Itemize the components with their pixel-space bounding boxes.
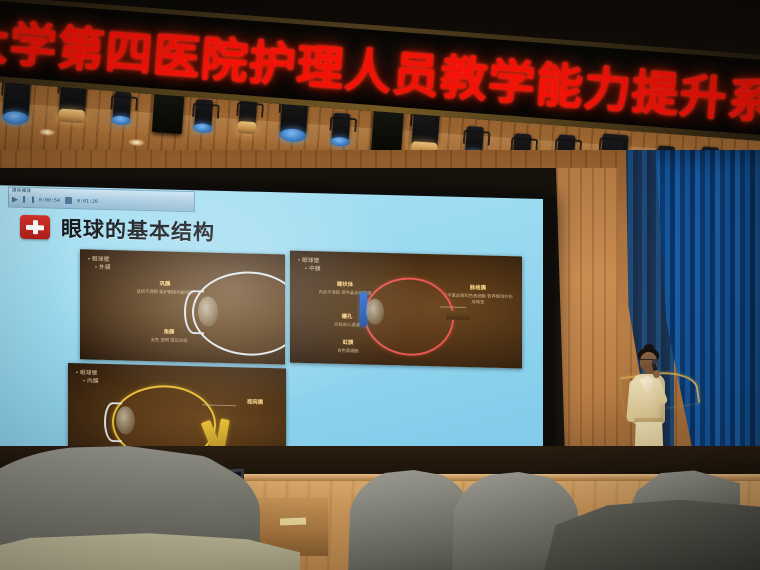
total-time: 0:01:26 [77, 198, 98, 205]
anno-retina-heading: 视网膜 [232, 399, 278, 408]
speaker-icon[interactable] [65, 197, 72, 204]
stage-light-blue [194, 99, 213, 130]
lens-shape [198, 296, 218, 327]
stage-speaker [152, 90, 185, 134]
lens-shape [366, 299, 384, 325]
anno-cornea-sub: 无色 透明 透过光线 [138, 337, 200, 345]
panel-outer-layer: 眼球壁 外膜 巩膜 坚韧不透明 保护眼球内部组织 角膜 无色 透明 透过光线 [80, 249, 285, 364]
play-icon[interactable] [12, 196, 18, 202]
player-controls[interactable]: 0:00:54 0:01:26 [12, 196, 98, 205]
anno-iris: 虹膜 含色素细胞 [322, 339, 374, 354]
player-title: 媒体播放 [12, 188, 31, 194]
lecture-hall-photo: 大学第四医院护理人员教学能力提升系列活动--授 媒体播放 0:00:54 0:0… [0, 0, 760, 570]
slide-title-row: 眼球的基本结构 [20, 212, 215, 247]
projection-screen-frame: 媒体播放 0:00:54 0:01:26 眼球的基本结构 眼球壁 外膜 [0, 181, 555, 480]
microphone-head [652, 359, 658, 364]
bullet-secondary: 内膜 [83, 378, 99, 387]
hand [653, 370, 660, 378]
stage-light-blue [331, 113, 350, 144]
anno-iris-sub: 含色素细胞 [322, 347, 374, 355]
stage-light-blue [112, 91, 131, 122]
stage-speaker [371, 109, 404, 153]
bullet-primary: 眼球壁 [88, 256, 110, 263]
slide-title: 眼球的基本结构 [61, 213, 215, 247]
current-time: 0:00:54 [39, 197, 60, 204]
lens-shape [116, 406, 135, 434]
panel-inner-bullets: 眼球壁 内膜 [76, 369, 99, 386]
panel-middle-bullets: 眼球壁 中膜 [298, 257, 321, 274]
anno-choroid: 脉络膜 含丰富血管和色素细胞 营养眼球并形成暗室 [442, 284, 514, 306]
anno-ciliary: 睫状体 内含平滑肌 调节晶状体曲度 [312, 281, 378, 297]
bullet-secondary: 中膜 [305, 265, 321, 274]
medical-cross-icon [20, 215, 50, 240]
optic-nerve-stub [446, 311, 470, 321]
pause-icon[interactable] [23, 196, 34, 203]
projection-screen: 媒体播放 0:00:54 0:01:26 眼球的基本结构 眼球壁 外膜 [0, 185, 543, 474]
panel-middle-layer: 眼球壁 中膜 睫状体 内含平滑肌 调节晶状体曲度 瞳孔 光线进入通道 虹膜 含色… [290, 251, 522, 369]
stage-light-warm [238, 98, 257, 129]
bullet-secondary: 外膜 [95, 264, 111, 273]
anno-retina: 视网膜 [232, 399, 278, 408]
paper-sheet [280, 518, 306, 526]
bullet-primary: 眼球壁 [76, 370, 98, 377]
anno-choroid-sub: 含丰富血管和色素细胞 营养眼球并形成暗室 [442, 292, 514, 306]
bullet-primary: 眼球壁 [298, 258, 320, 265]
anno-ciliary-sub: 内含平滑肌 调节晶状体曲度 [312, 289, 378, 297]
media-player-toolbar[interactable]: 媒体播放 0:00:54 0:01:26 [8, 186, 195, 212]
wooden-pillar [556, 168, 618, 486]
panel-outer-bullets: 眼球壁 外膜 [88, 255, 111, 272]
